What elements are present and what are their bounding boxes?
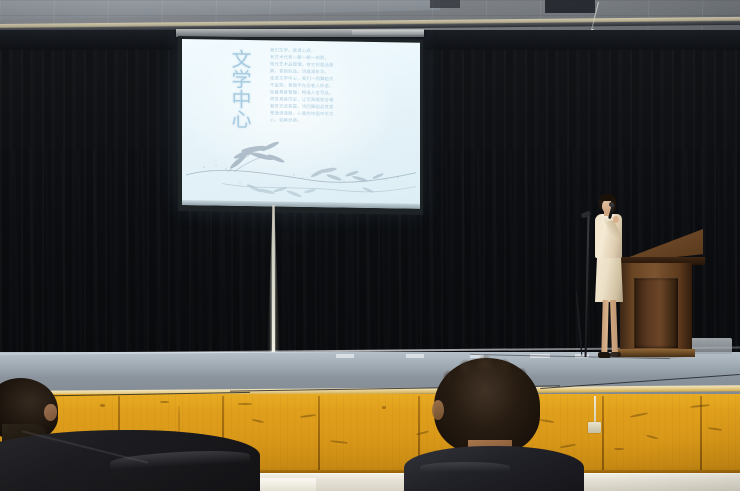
power-outlet (588, 422, 601, 433)
speaker-hand (613, 216, 619, 223)
bamboo-ink-artwork (182, 131, 420, 205)
panel-seam (318, 396, 320, 476)
podium-front-panel (634, 278, 678, 348)
speaker-skirt (595, 252, 623, 302)
audience-hair-spikes-right (434, 354, 540, 388)
projection-screen: 文学中心 我们文学，是温心底， 有艺术代表一朝一朝一刻照， 现代艺术品管理，有它… (182, 39, 420, 209)
scuff-mark (100, 404, 105, 407)
panel-seam (700, 396, 702, 476)
screen-housing-right (352, 30, 424, 35)
speaker-shoe-left (598, 352, 611, 358)
floor-tape-marker (406, 354, 424, 358)
slide-poem-text: 我们文学，是温心底， 有艺术代表一朝一朝一刻照， 现代艺术品管理，有它的喜品服 … (270, 48, 398, 126)
slide-title: 文学中心 (212, 48, 252, 129)
outlet-wire (594, 396, 596, 424)
scuff-mark (238, 403, 252, 405)
auditorium-photograph: 文学中心 我们文学，是温心底， 有艺术代表一朝一朝一刻照， 现代艺术品管理，有它… (0, 0, 740, 491)
audience-ear-left (44, 404, 57, 421)
audience-shoulder-highlight-right (420, 462, 510, 472)
floor-tape-marker (336, 354, 354, 358)
ceiling-vent-small (430, 0, 460, 8)
screen-stand-pole (272, 205, 275, 353)
scuff-mark (382, 406, 386, 409)
microphone-head-icon (609, 202, 614, 207)
scuff-mark (160, 401, 169, 403)
speaker-shoe-right (610, 352, 621, 357)
audience-ear-right (432, 400, 444, 420)
podium-base (617, 349, 695, 357)
scuff-mark (614, 448, 624, 450)
panel-seam (602, 396, 604, 476)
ceiling-vent (545, 0, 595, 13)
